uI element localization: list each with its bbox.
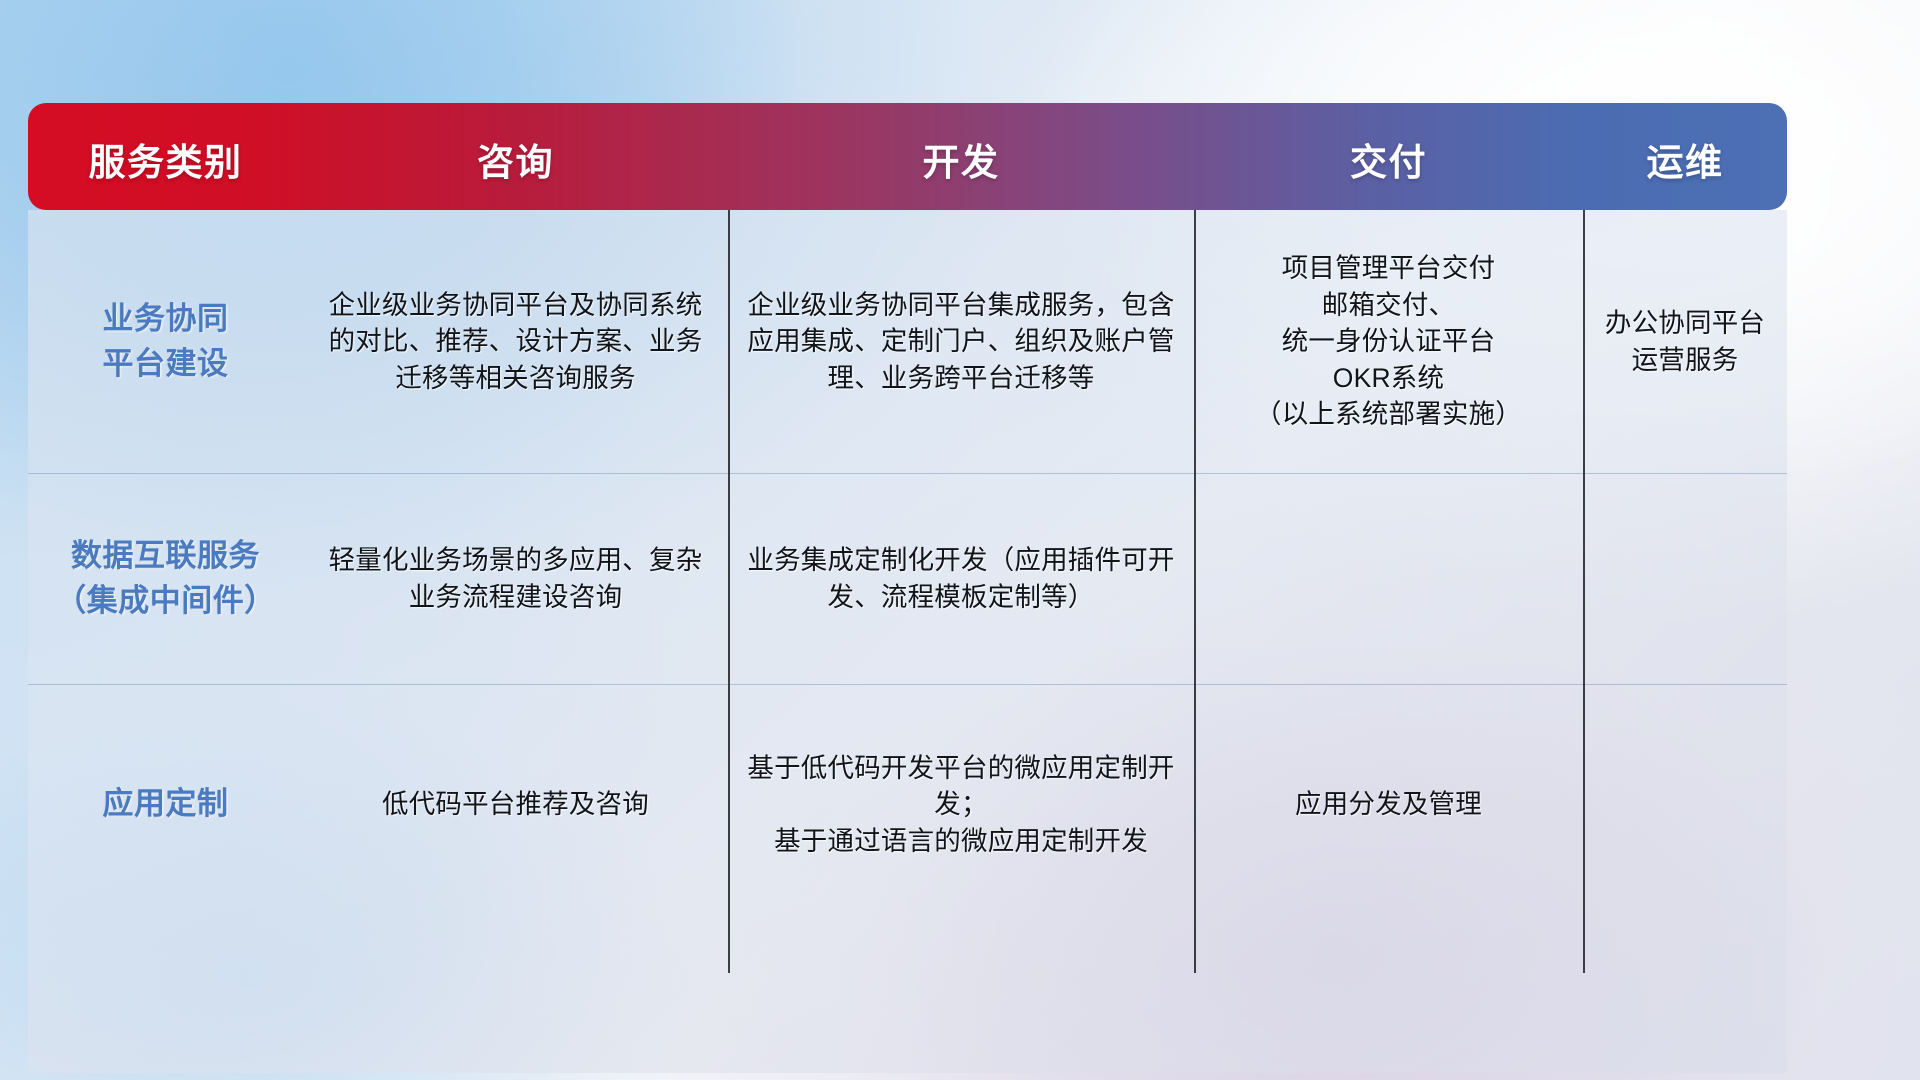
table-cell-development: 基于低代码开发平台的微应用定制开发； 基于通过语言的微应用定制开发 <box>728 684 1194 925</box>
table-cell-consulting: 轻量化业务场景的多应用、复杂业务流程建设咨询 <box>303 473 728 684</box>
table-cell-category: 应用定制 <box>28 684 303 925</box>
cell-text: 企业级业务协同平台及协同系统的对比、推荐、设计方案、业务迁移等相关咨询服务 <box>317 287 714 397</box>
table-header-label: 开发 <box>923 132 1000 186</box>
table-header-label: 服务类别 <box>89 132 243 186</box>
cell-text: 低代码平台推荐及咨询 <box>382 786 649 823</box>
cell-text: 基于低代码开发平台的微应用定制开发； 基于通过语言的微应用定制开发 <box>742 750 1180 860</box>
table-header-label: 交付 <box>1350 132 1427 186</box>
table-header-cell-consulting: 咨询 <box>303 103 728 210</box>
table-cell-category: 业务协同 平台建设 <box>28 210 303 473</box>
cell-text: 业务集成定制化开发（应用插件可开发、流程模板定制等） <box>742 542 1180 615</box>
table-cell-consulting: 企业级业务协同平台及协同系统的对比、推荐、设计方案、业务迁移等相关咨询服务 <box>303 210 728 473</box>
cell-text: 轻量化业务场景的多应用、复杂业务流程建设咨询 <box>317 542 714 615</box>
table-header-row: 服务类别 咨询 开发 交付 运维 <box>28 103 1787 210</box>
row-label: 应用定制 <box>103 782 229 826</box>
table-cell-delivery: 应用分发及管理 <box>1194 684 1583 925</box>
table-body: 业务协同 平台建设 企业级业务协同平台及协同系统的对比、推荐、设计方案、业务迁移… <box>28 210 1787 925</box>
row-label: 数据互联服务 （集成中间件） <box>55 534 276 622</box>
table-cell-operations: 办公协同平台运营服务 <box>1583 210 1787 473</box>
table-cell-development: 业务集成定制化开发（应用插件可开发、流程模板定制等） <box>728 473 1194 684</box>
table-cell-development: 企业级业务协同平台集成服务，包含应用集成、定制门户、组织及账户管理、业务跨平台迁… <box>728 210 1194 473</box>
table-cell-delivery: 项目管理平台交付 邮箱交付、 统一身份认证平台 OKR系统 （以上系统部署实施） <box>1194 210 1583 473</box>
table-header-cell-category: 服务类别 <box>28 103 303 210</box>
column-divider-development-delivery <box>1194 210 1196 973</box>
table-cell-operations <box>1583 473 1787 684</box>
table-cell-consulting: 低代码平台推荐及咨询 <box>303 684 728 925</box>
table-row: 业务协同 平台建设 企业级业务协同平台及协同系统的对比、推荐、设计方案、业务迁移… <box>28 210 1787 473</box>
table-header-cell-development: 开发 <box>728 103 1194 210</box>
table-cell-delivery <box>1194 473 1583 684</box>
cell-text: 企业级业务协同平台集成服务，包含应用集成、定制门户、组织及账户管理、业务跨平台迁… <box>742 287 1180 397</box>
table-cell-operations <box>1583 684 1787 925</box>
column-divider-delivery-operations <box>1583 210 1585 973</box>
table-header-cell-delivery: 交付 <box>1194 103 1583 210</box>
row-label: 业务协同 平台建设 <box>103 297 229 385</box>
service-matrix-table: 服务类别 咨询 开发 交付 运维 业务协同 平台建设 企业级业务协同平台及协同系… <box>28 103 1787 969</box>
table-header-label: 咨询 <box>477 132 554 186</box>
table-cell-category: 数据互联服务 （集成中间件） <box>28 473 303 684</box>
table-row: 数据互联服务 （集成中间件） 轻量化业务场景的多应用、复杂业务流程建设咨询 业务… <box>28 473 1787 684</box>
table-header-cell-operations: 运维 <box>1583 103 1787 210</box>
table-header-label: 运维 <box>1647 132 1724 186</box>
cell-text: 应用分发及管理 <box>1295 786 1482 823</box>
cell-text: 办公协同平台运营服务 <box>1597 305 1773 378</box>
cell-text: 项目管理平台交付 邮箱交付、 统一身份认证平台 OKR系统 （以上系统部署实施） <box>1255 250 1522 433</box>
table-row: 应用定制 低代码平台推荐及咨询 基于低代码开发平台的微应用定制开发； 基于通过语… <box>28 684 1787 925</box>
column-divider-consulting-development <box>728 210 730 973</box>
